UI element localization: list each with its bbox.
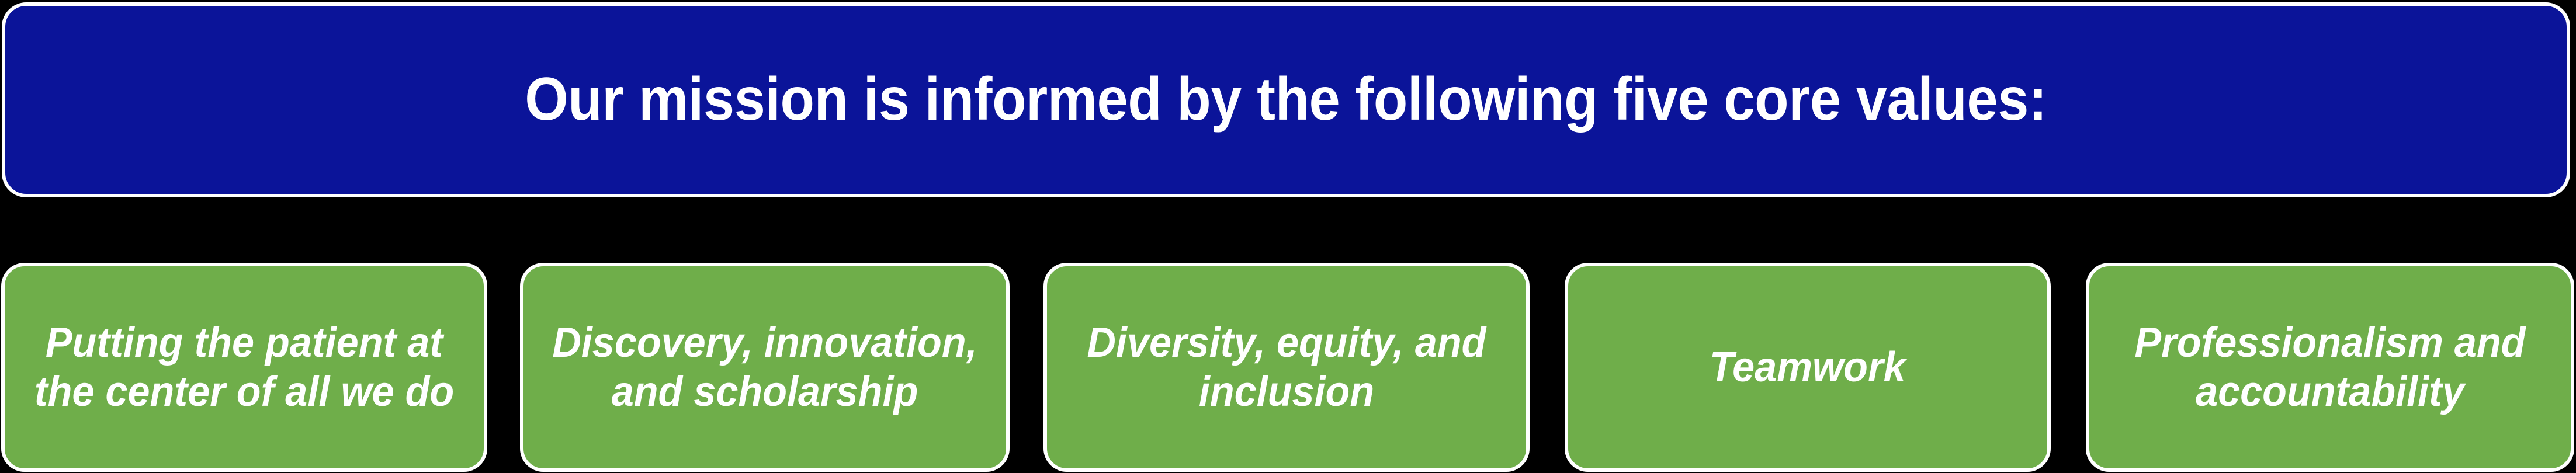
value-card-discovery-innovation-scholarship[interactable]: Discovery, innovation, and scholarship (520, 263, 1010, 472)
value-card-label: Teamwork (1710, 343, 1906, 392)
core-values-slide: Our mission is informed by the following… (0, 0, 2576, 468)
value-card-diversity-equity-inclusion[interactable]: Diversity, equity, and inclusion (1043, 263, 1530, 472)
core-values-row: Putting the patient at the center of all… (0, 263, 2576, 473)
value-card-label: Putting the patient at the center of all… (26, 318, 463, 416)
value-card-label: Professionalism and accountability (2110, 318, 2550, 416)
mission-banner-title: Our mission is informed by the following… (525, 68, 2047, 131)
value-card-label: Discovery, innovation, and scholarship (545, 318, 985, 416)
mission-banner: Our mission is informed by the following… (2, 2, 2570, 197)
value-card-label: Diversity, equity, and inclusion (1068, 318, 1506, 416)
value-card-professionalism-accountability[interactable]: Professionalism and accountability (2086, 263, 2574, 472)
value-card-patient-centered[interactable]: Putting the patient at the center of all… (1, 263, 487, 472)
value-card-teamwork[interactable]: Teamwork (1565, 263, 2051, 472)
